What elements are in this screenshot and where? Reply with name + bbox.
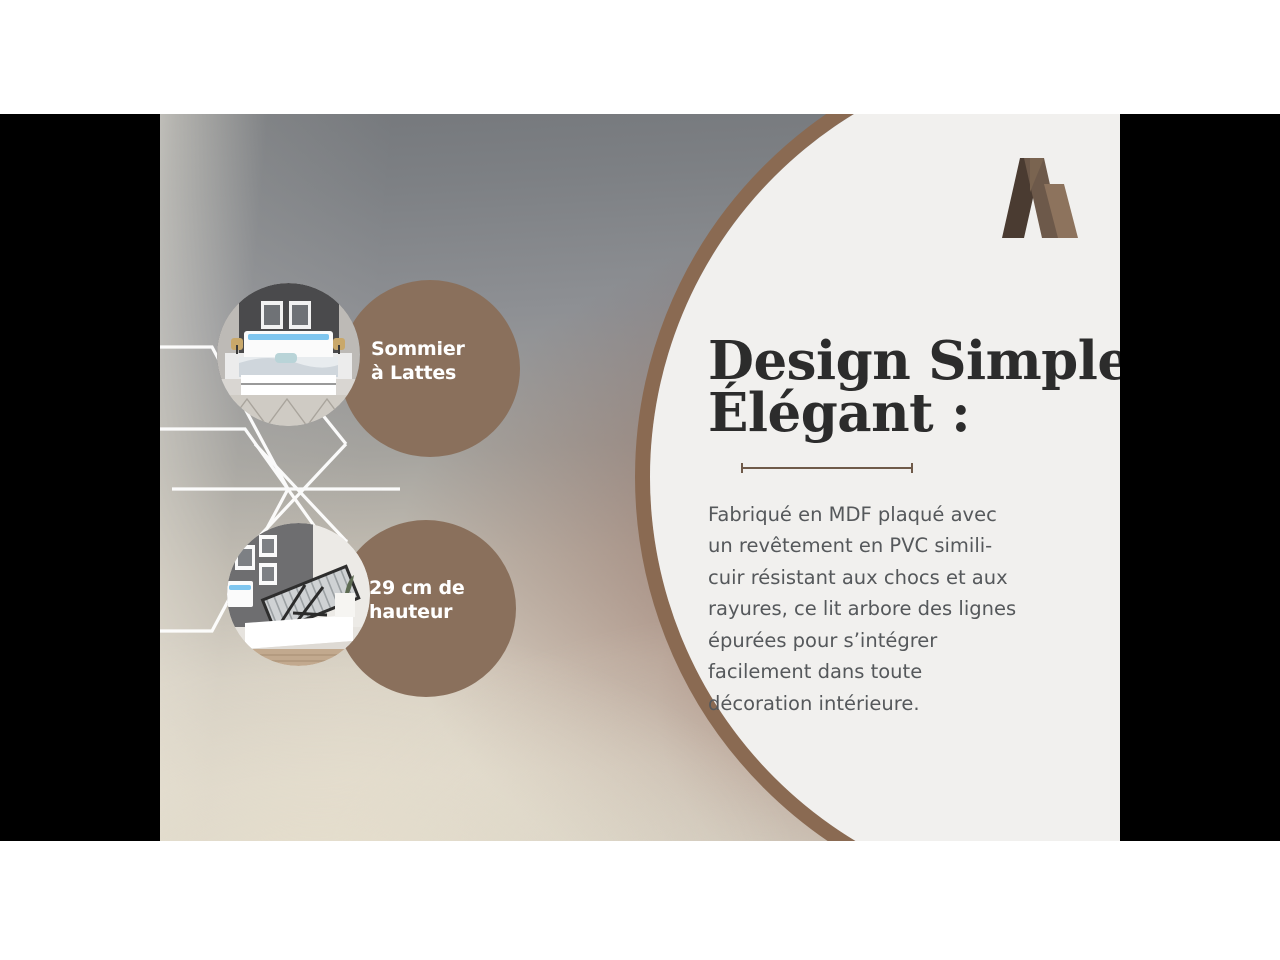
slide-canvas: Sommier à Lattes bbox=[160, 114, 1120, 841]
feature-badge-2-label: 29 cm de hauteur bbox=[369, 576, 465, 624]
title-divider bbox=[741, 463, 913, 473]
headline-line-2: Élégant : bbox=[708, 388, 1108, 440]
letterbox-bar-right bbox=[1120, 114, 1280, 841]
body-paragraph: Fabriqué en MDF plaqué avec un revêtemen… bbox=[708, 499, 1026, 720]
divider-cap-right bbox=[911, 463, 913, 473]
bed-lift-storage-photo bbox=[227, 523, 370, 666]
page-title: Design Simple Élégant : bbox=[708, 336, 1108, 440]
screenshot-viewport: Sommier à Lattes bbox=[0, 0, 1280, 960]
copy-block: Design Simple Élégant : Fabriqué en MDF … bbox=[708, 336, 1108, 719]
divider-bar bbox=[741, 467, 913, 469]
bed-led-headboard-photo bbox=[217, 283, 360, 426]
monogram-a-logo bbox=[986, 152, 1078, 244]
feature-badge-1-label: Sommier à Lattes bbox=[371, 337, 465, 385]
letterbox-bar-left bbox=[0, 114, 160, 841]
